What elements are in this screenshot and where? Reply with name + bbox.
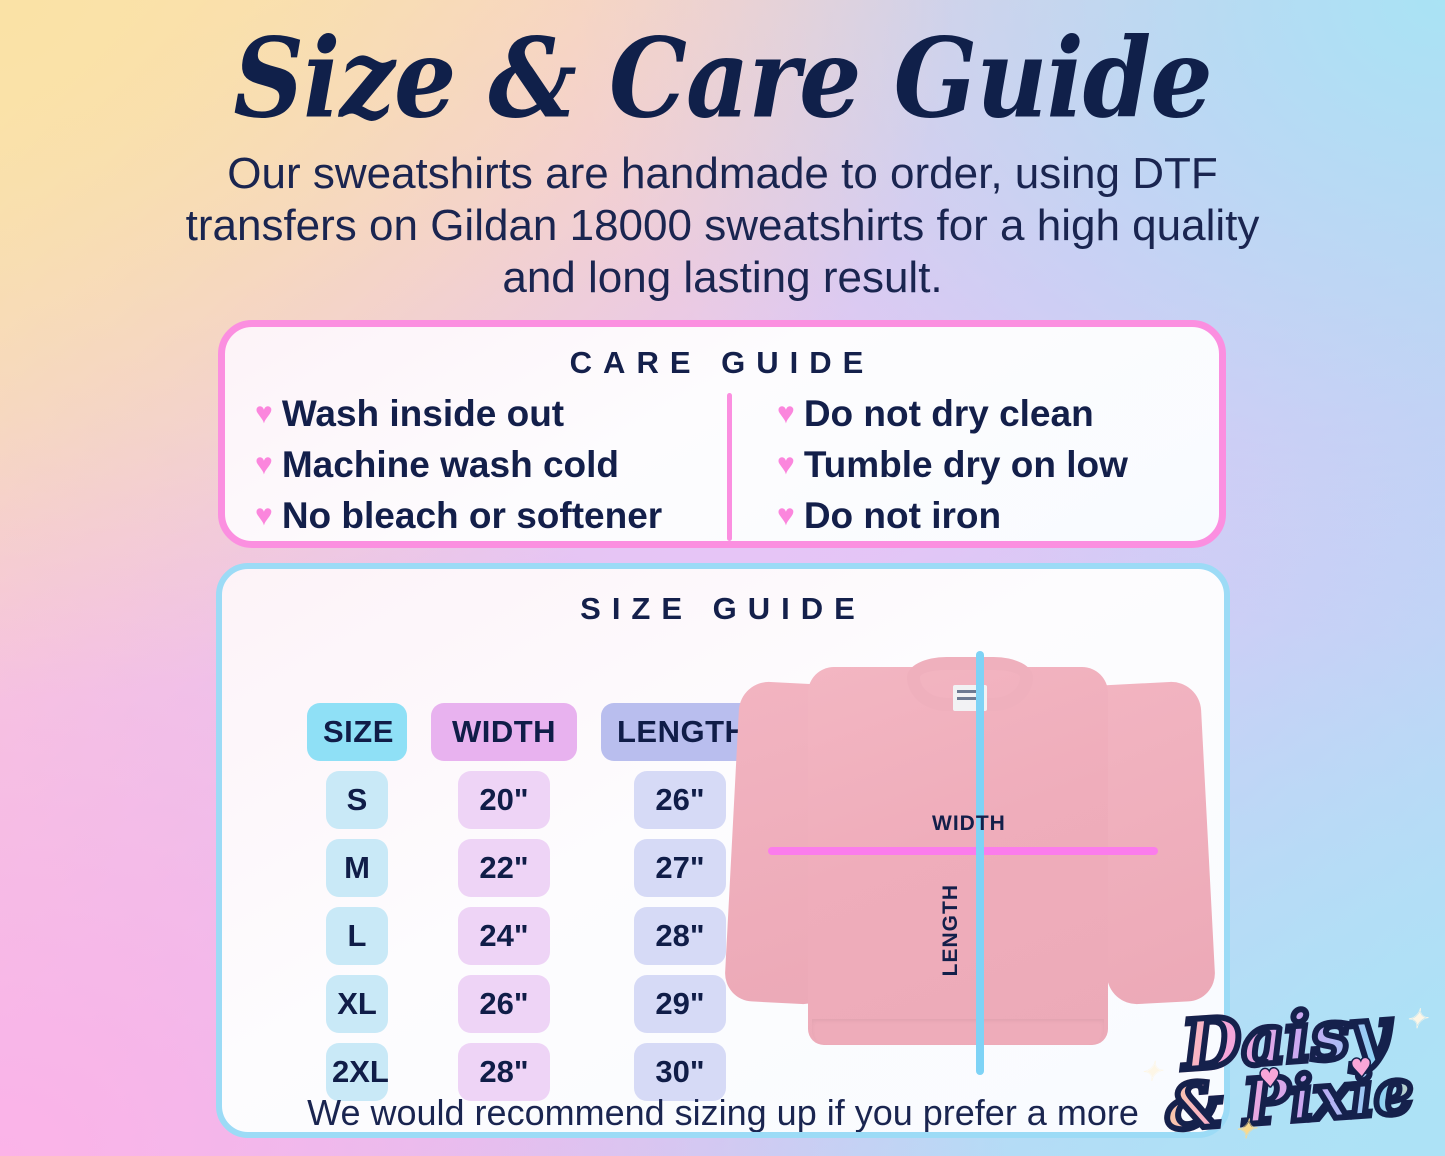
column-header-width: WIDTH (431, 703, 577, 761)
size-table-column-size: SIZE S M L XL 2XL (307, 703, 407, 1101)
care-guide-left-column: ♥ Wash inside out ♥ Machine wash cold ♥ … (255, 393, 747, 537)
care-item-label: Tumble dry on low (804, 444, 1128, 486)
care-item: ♥ Do not iron (777, 495, 1187, 537)
care-guide-divider (727, 393, 732, 541)
table-cell-size: XL (326, 975, 388, 1033)
care-item-label: Do not iron (804, 495, 1001, 537)
width-measurement-line (768, 847, 1158, 855)
size-table: SIZE S M L XL 2XL WIDTH 20" 22" 24" 26" … (307, 703, 759, 1101)
table-cell-length: 29" (634, 975, 726, 1033)
column-header-size: SIZE (307, 703, 407, 761)
care-item-label: Wash inside out (282, 393, 564, 435)
table-cell-width: 24" (458, 907, 550, 965)
table-cell-width: 22" (458, 839, 550, 897)
size-guide-body: SIZE S M L XL 2XL WIDTH 20" 22" 24" 26" … (222, 627, 1224, 1138)
heart-bullet-icon: ♥ (777, 450, 795, 480)
care-item: ♥ Wash inside out (255, 393, 747, 435)
heart-icon: ♥ (1350, 1056, 1373, 1080)
brand-logo: Daisy & Pixie ✦ ✦ ✦ ♥ ♥ (1135, 998, 1442, 1156)
care-item: ♥ Machine wash cold (255, 444, 747, 486)
care-item: ♥ Do not dry clean (777, 393, 1187, 435)
heart-icon: ♥ (1258, 1067, 1281, 1091)
care-guide-right-column: ♥ Do not dry clean ♥ Tumble dry on low ♥… (747, 393, 1187, 537)
sparkle-icon: ✦ (1234, 1118, 1257, 1143)
length-measurement-label: LENGTH (939, 884, 963, 976)
care-item-label: Machine wash cold (282, 444, 619, 486)
heart-bullet-icon: ♥ (777, 501, 795, 531)
care-guide-card: CARE GUIDE ♥ Wash inside out ♥ Machine w… (218, 320, 1226, 548)
page-title: Size & Care Guide (0, 20, 1445, 139)
sweatshirt-right-sleeve (1092, 680, 1217, 1005)
care-item-label: Do not dry clean (804, 393, 1094, 435)
page-subtitle: Our sweatshirts are handmade to order, u… (168, 148, 1278, 304)
table-cell-size: M (326, 839, 388, 897)
care-item: ♥ No bleach or softener (255, 495, 747, 537)
care-guide-columns: ♥ Wash inside out ♥ Machine wash cold ♥ … (225, 393, 1219, 537)
size-table-column-width: WIDTH 20" 22" 24" 26" 28" (431, 703, 577, 1101)
heart-bullet-icon: ♥ (777, 399, 795, 429)
table-cell-size: L (326, 907, 388, 965)
care-guide-heading: CARE GUIDE (225, 345, 1219, 381)
brand-logo-line-2: & Pixie (1139, 1060, 1440, 1138)
table-cell-width: 26" (458, 975, 550, 1033)
heart-bullet-icon: ♥ (255, 450, 273, 480)
size-care-guide-page: Size & Care Guide Our sweatshirts are ha… (0, 0, 1445, 1156)
table-cell-size: S (326, 771, 388, 829)
size-guide-card: SIZE GUIDE SIZE S M L XL 2XL WIDTH 20" 2… (216, 563, 1230, 1138)
table-cell-width: 20" (458, 771, 550, 829)
table-cell-length: 28" (634, 907, 726, 965)
width-measurement-label: WIDTH (932, 812, 1006, 836)
size-guide-heading: SIZE GUIDE (222, 591, 1224, 627)
sweatshirt-illustration (720, 649, 1220, 1079)
length-measurement-line (976, 651, 984, 1075)
table-cell-length: 26" (634, 771, 726, 829)
heart-bullet-icon: ♥ (255, 501, 273, 531)
care-item: ♥ Tumble dry on low (777, 444, 1187, 486)
table-cell-length: 27" (634, 839, 726, 897)
heart-bullet-icon: ♥ (255, 399, 273, 429)
care-item-label: No bleach or softener (282, 495, 662, 537)
sparkle-icon: ✦ (1405, 1008, 1428, 1033)
sweatshirt-diagram: WIDTH LENGTH (720, 649, 1220, 1079)
sweatshirt-body (808, 667, 1108, 1045)
sizing-recommendation-note: We would recommend sizing up if you pref… (222, 1093, 1224, 1138)
sparkle-icon: ✦ (1140, 1061, 1163, 1086)
